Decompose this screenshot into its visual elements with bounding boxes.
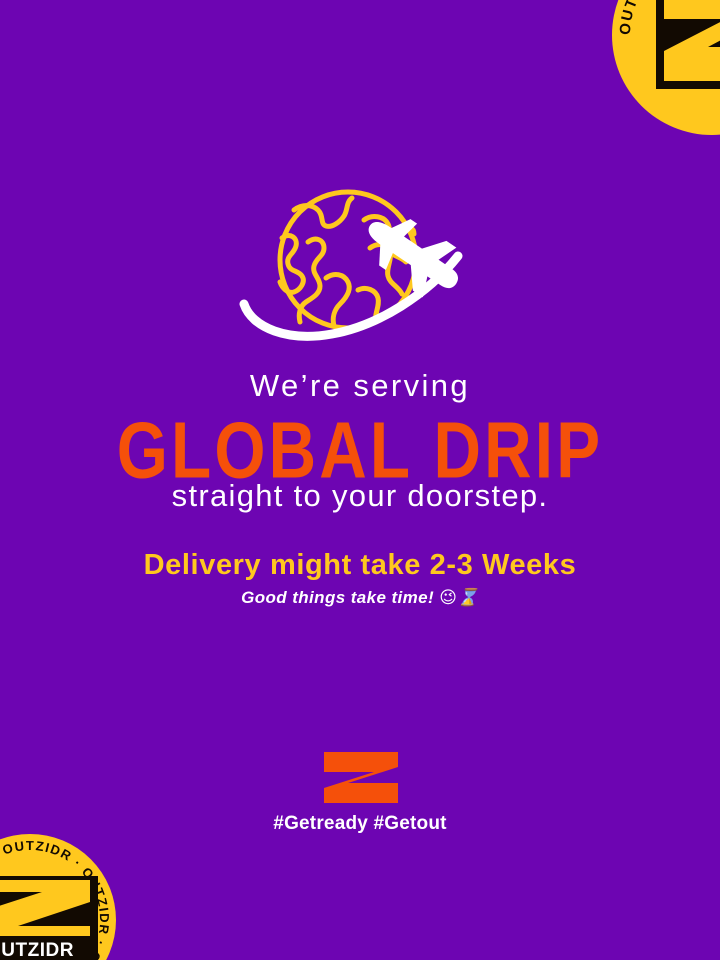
badge-core-top-right	[656, 0, 720, 89]
eyebrow-text: We’re serving	[0, 368, 720, 404]
reassurance-text: Good things take time! 😉⌛	[0, 588, 720, 608]
outzidr-z-logo	[322, 750, 400, 805]
outzidr-seal-top-right: OUTZIDR · OUTZIDR · OUTZIDR · OUTZIDR ·	[612, 0, 720, 135]
outzidr-z-glyph	[656, 0, 720, 89]
globe-with-airplane-icon	[236, 182, 486, 350]
delivery-estimate-text: Delivery might take 2-3 Weeks	[0, 549, 720, 582]
badge-wordmark: OUTZIDR	[0, 940, 98, 960]
hashtags-text: #Getready #Getout	[0, 813, 720, 835]
outzidr-seal-bottom-left: OUTZIDR · OUTZIDR · OUTZIDR · OUTZIDR · …	[0, 834, 116, 960]
poster-canvas: OUTZIDR · OUTZIDR · OUTZIDR · OUTZIDR ·	[0, 0, 720, 960]
badge-core-bottom-left: OUTZIDR	[0, 876, 98, 960]
subhead-text: straight to your doorstep.	[0, 478, 720, 514]
